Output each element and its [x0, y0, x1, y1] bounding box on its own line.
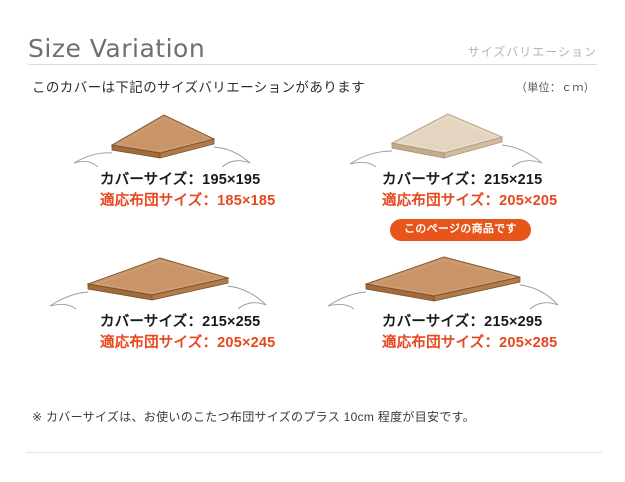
- kotatsu-cover-illustration-rect-brown: [28, 248, 314, 310]
- intro-text: このカバーは下記のサイズバリエーションがあります: [32, 76, 365, 96]
- size-variation-item: カバーサイズ：215×215 適応布団サイズ：205×205 このページの商品で…: [314, 106, 600, 241]
- page-header: Size Variation サイズバリエーション: [28, 28, 597, 65]
- kotatsu-cover-illustration-square-beige: [314, 106, 600, 168]
- cover-size-label: カバーサイズ：215×295: [382, 312, 600, 333]
- cover-size-label: カバーサイズ：215×255: [100, 312, 314, 333]
- current-product-badge: このページの商品です: [390, 219, 531, 241]
- futon-size-label: 適応布団サイズ：205×205: [382, 191, 600, 212]
- kotatsu-cover-illustration-rect-long-brown: [314, 248, 600, 310]
- cover-size-label: カバーサイズ：195×195: [100, 170, 314, 191]
- cover-rectangle-icon: [28, 248, 314, 310]
- size-labels: カバーサイズ：215×215 適応布団サイズ：205×205: [314, 170, 600, 212]
- size-labels: カバーサイズ：195×195 適応布団サイズ：185×185: [28, 170, 314, 212]
- bottom-divider: [26, 452, 602, 453]
- page-subtitle: サイズバリエーション: [468, 44, 597, 60]
- size-variation-item: カバーサイズ：215×295 適応布団サイズ：205×285: [314, 248, 600, 354]
- unit-note: （単位：ｃｍ）: [516, 79, 595, 95]
- futon-size-label: 適応布団サイズ：205×245: [100, 333, 314, 354]
- cover-square-icon: [28, 106, 314, 168]
- kotatsu-cover-illustration-square-brown: [28, 106, 314, 168]
- size-variation-item: カバーサイズ：195×195 適応布団サイズ：185×185: [28, 106, 314, 212]
- size-labels: カバーサイズ：215×295 適応布団サイズ：205×285: [314, 312, 600, 354]
- size-labels: カバーサイズ：215×255 適応布団サイズ：205×245: [28, 312, 314, 354]
- size-variation-grid: カバーサイズ：195×195 適応布団サイズ：185×185 カバー: [28, 106, 600, 376]
- size-variation-page: Size Variation サイズバリエーション このカバーは下記のサイズバリ…: [0, 0, 625, 482]
- current-product-badge-wrap: このページの商品です: [314, 219, 600, 241]
- page-title: Size Variation: [28, 35, 205, 63]
- cover-rectangle-icon: [314, 248, 600, 310]
- futon-size-label: 適応布団サイズ：185×185: [100, 191, 314, 212]
- footnote-text: ※ カバーサイズは、お使いのこたつ布団サイズのプラス 10cm 程度が目安です。: [32, 408, 475, 425]
- futon-size-label: 適応布団サイズ：205×285: [382, 333, 600, 354]
- cover-size-label: カバーサイズ：215×215: [382, 170, 600, 191]
- size-variation-item: カバーサイズ：215×255 適応布団サイズ：205×245: [28, 248, 314, 354]
- cover-square-icon: [314, 106, 600, 168]
